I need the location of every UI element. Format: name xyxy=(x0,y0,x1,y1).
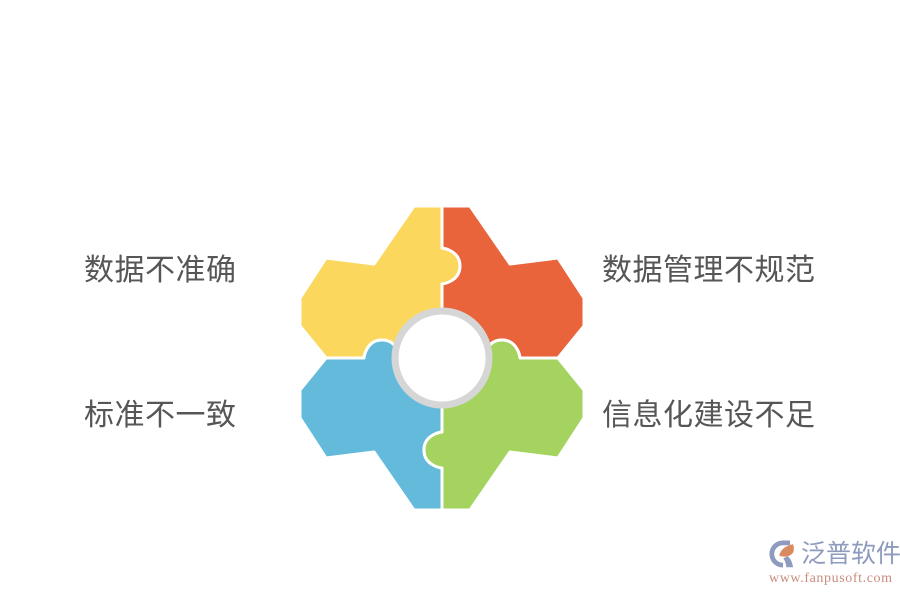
label-informatization-insufficient: 信息化建设不足 xyxy=(602,399,816,432)
center-circle-inner xyxy=(402,318,482,398)
brand-logo-row: 泛普软件 xyxy=(768,538,900,570)
jigsaw-svg xyxy=(282,186,602,526)
fanpu-c-mark-icon xyxy=(768,539,798,569)
slide-canvas: 数据不准确 标准不一致 数据管理不规范 信息化建设不足 xyxy=(0,0,900,600)
brand-logo: 泛普软件 www.fanpusoft.com xyxy=(768,533,894,591)
label-data-inaccurate: 数据不准确 xyxy=(84,254,237,287)
label-data-management-nonstandard: 数据管理不规范 xyxy=(602,254,816,287)
jigsaw-diagram xyxy=(282,186,602,526)
brand-wordmark: 泛普软件 xyxy=(801,539,900,569)
label-standards-inconsistent: 标准不一致 xyxy=(84,399,237,432)
brand-url: www.fanpusoft.com xyxy=(769,571,893,587)
